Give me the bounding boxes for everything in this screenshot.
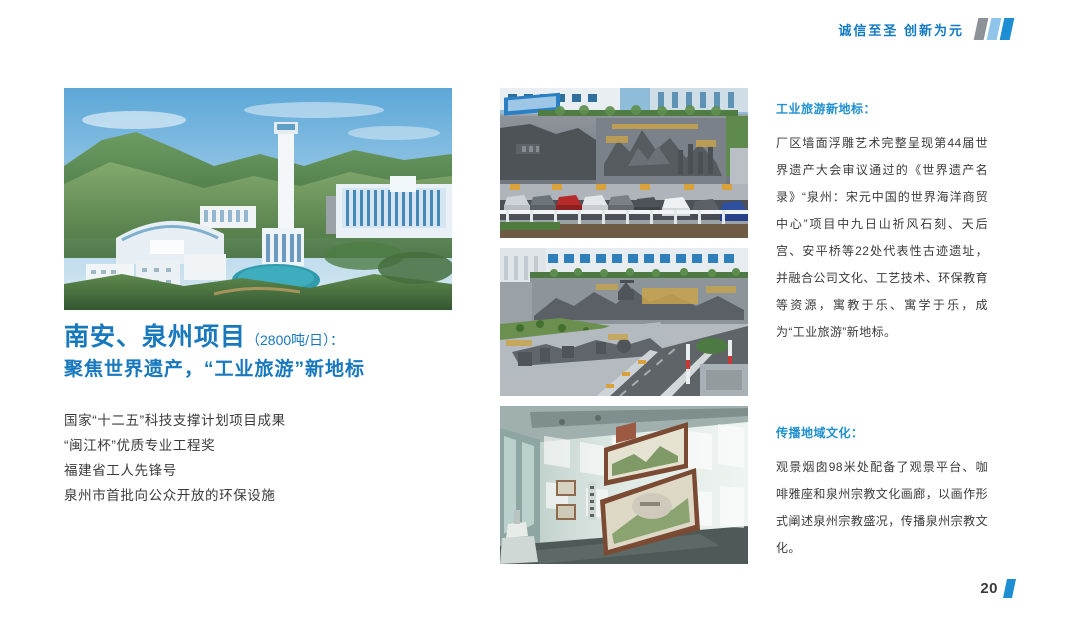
award-item: 国家“十二五”科技支撑计划项目成果 [64,408,484,433]
project-title-main: 南安、泉州项目（2800吨/日）： [64,322,484,353]
photo-relief-wall-parking [500,88,748,238]
photo-culture-wall-road [500,248,748,396]
project-subtitle: 聚焦世界遗产，“工业旅游”新地标 [64,356,484,385]
logo-marks [976,18,1012,40]
page-header: 诚信至圣 创新为元 [838,18,1012,40]
award-item: 福建省工人先锋号 [64,458,484,483]
logo-mark-light-blue-icon [987,18,1002,40]
text-block-industrial-tourism: 工业旅游新地标： 厂区墙面浮雕艺术完整呈现第44届世界遗产大会审议通过的《世界遗… [776,100,988,346]
text-block-heading: 工业旅游新地标： [776,100,988,118]
text-block-body: 厂区墙面浮雕艺术完整呈现第44届世界遗产大会审议通过的《世界遗产名录》“泉州：宋… [776,130,988,346]
award-item: 泉州市首批向公众开放的环保设施 [64,483,484,508]
page-number: 20 [980,580,998,597]
company-slogan: 诚信至圣 创新为元 [838,20,964,39]
project-capacity: （2800吨/日）： [246,332,344,348]
project-title-block: 南安、泉州项目（2800吨/日）： 聚焦世界遗产，“工业旅游”新地标 [64,322,484,385]
project-title-text: 南安、泉州项目 [64,323,246,351]
page-footer: 20 [980,579,1014,598]
photo-religion-culture-gallery [500,406,748,564]
logo-mark-gray-icon [974,18,989,40]
text-block-regional-culture: 传播地域文化： 观景烟囱98米处配备了观景平台、咖啡雅座和泉州宗教文化画廊，以画… [776,424,988,562]
logo-mark-blue-icon [1000,18,1015,40]
text-block-heading: 传播地域文化： [776,424,988,442]
award-item: “闽江杯”优质专业工程奖 [64,433,484,458]
text-block-body: 观景烟囱98米处配备了观景平台、咖啡雅座和泉州宗教文化画廊，以画作形式阐述泉州宗… [776,454,988,562]
award-list: 国家“十二五”科技支撑计划项目成果 “闽江杯”优质专业工程奖 福建省工人先锋号 … [64,408,484,508]
page-mark-icon [1003,579,1016,598]
slide-page: 诚信至圣 创新为元 [0,0,1070,620]
hero-photo-plant-aerial [64,88,452,310]
